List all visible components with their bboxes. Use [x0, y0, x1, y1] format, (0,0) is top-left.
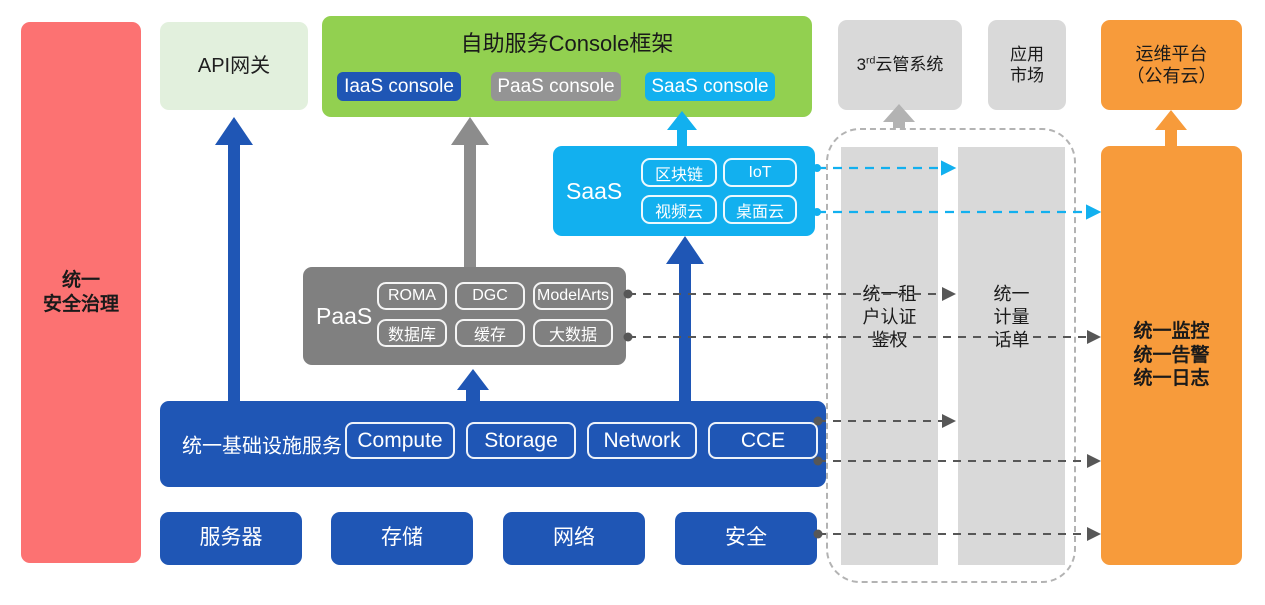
arrow-iaas-to-api-gateway — [215, 117, 253, 401]
arrow-ops-pillar-to-ops-platform — [1155, 110, 1187, 146]
dashed-resources-to-ops-pillar — [814, 530, 1099, 539]
dashed-iaas-to-ops-pillar — [814, 457, 1099, 466]
dashed-paas-to-ops-pillar — [624, 333, 1099, 342]
architecture-diagram: 统一 安全治理 API网关 自助服务Console框架 IaaS console… — [0, 0, 1265, 605]
dashed-saas-to-ops-pillar — [813, 208, 1098, 216]
arrow-saas-to-saas-console — [667, 111, 697, 146]
dashed-iaas-to-tenant-auth — [814, 417, 954, 426]
arrow-paas-to-console — [451, 117, 489, 267]
arrow-middle-to-third-party — [883, 104, 915, 128]
connectors-layer — [0, 0, 1265, 605]
dashed-saas-to-tenant-auth — [813, 164, 953, 172]
dashed-paas-to-tenant-auth — [624, 290, 954, 299]
arrow-iaas-to-saas — [666, 236, 704, 401]
arrow-iaas-to-paas — [457, 369, 489, 401]
